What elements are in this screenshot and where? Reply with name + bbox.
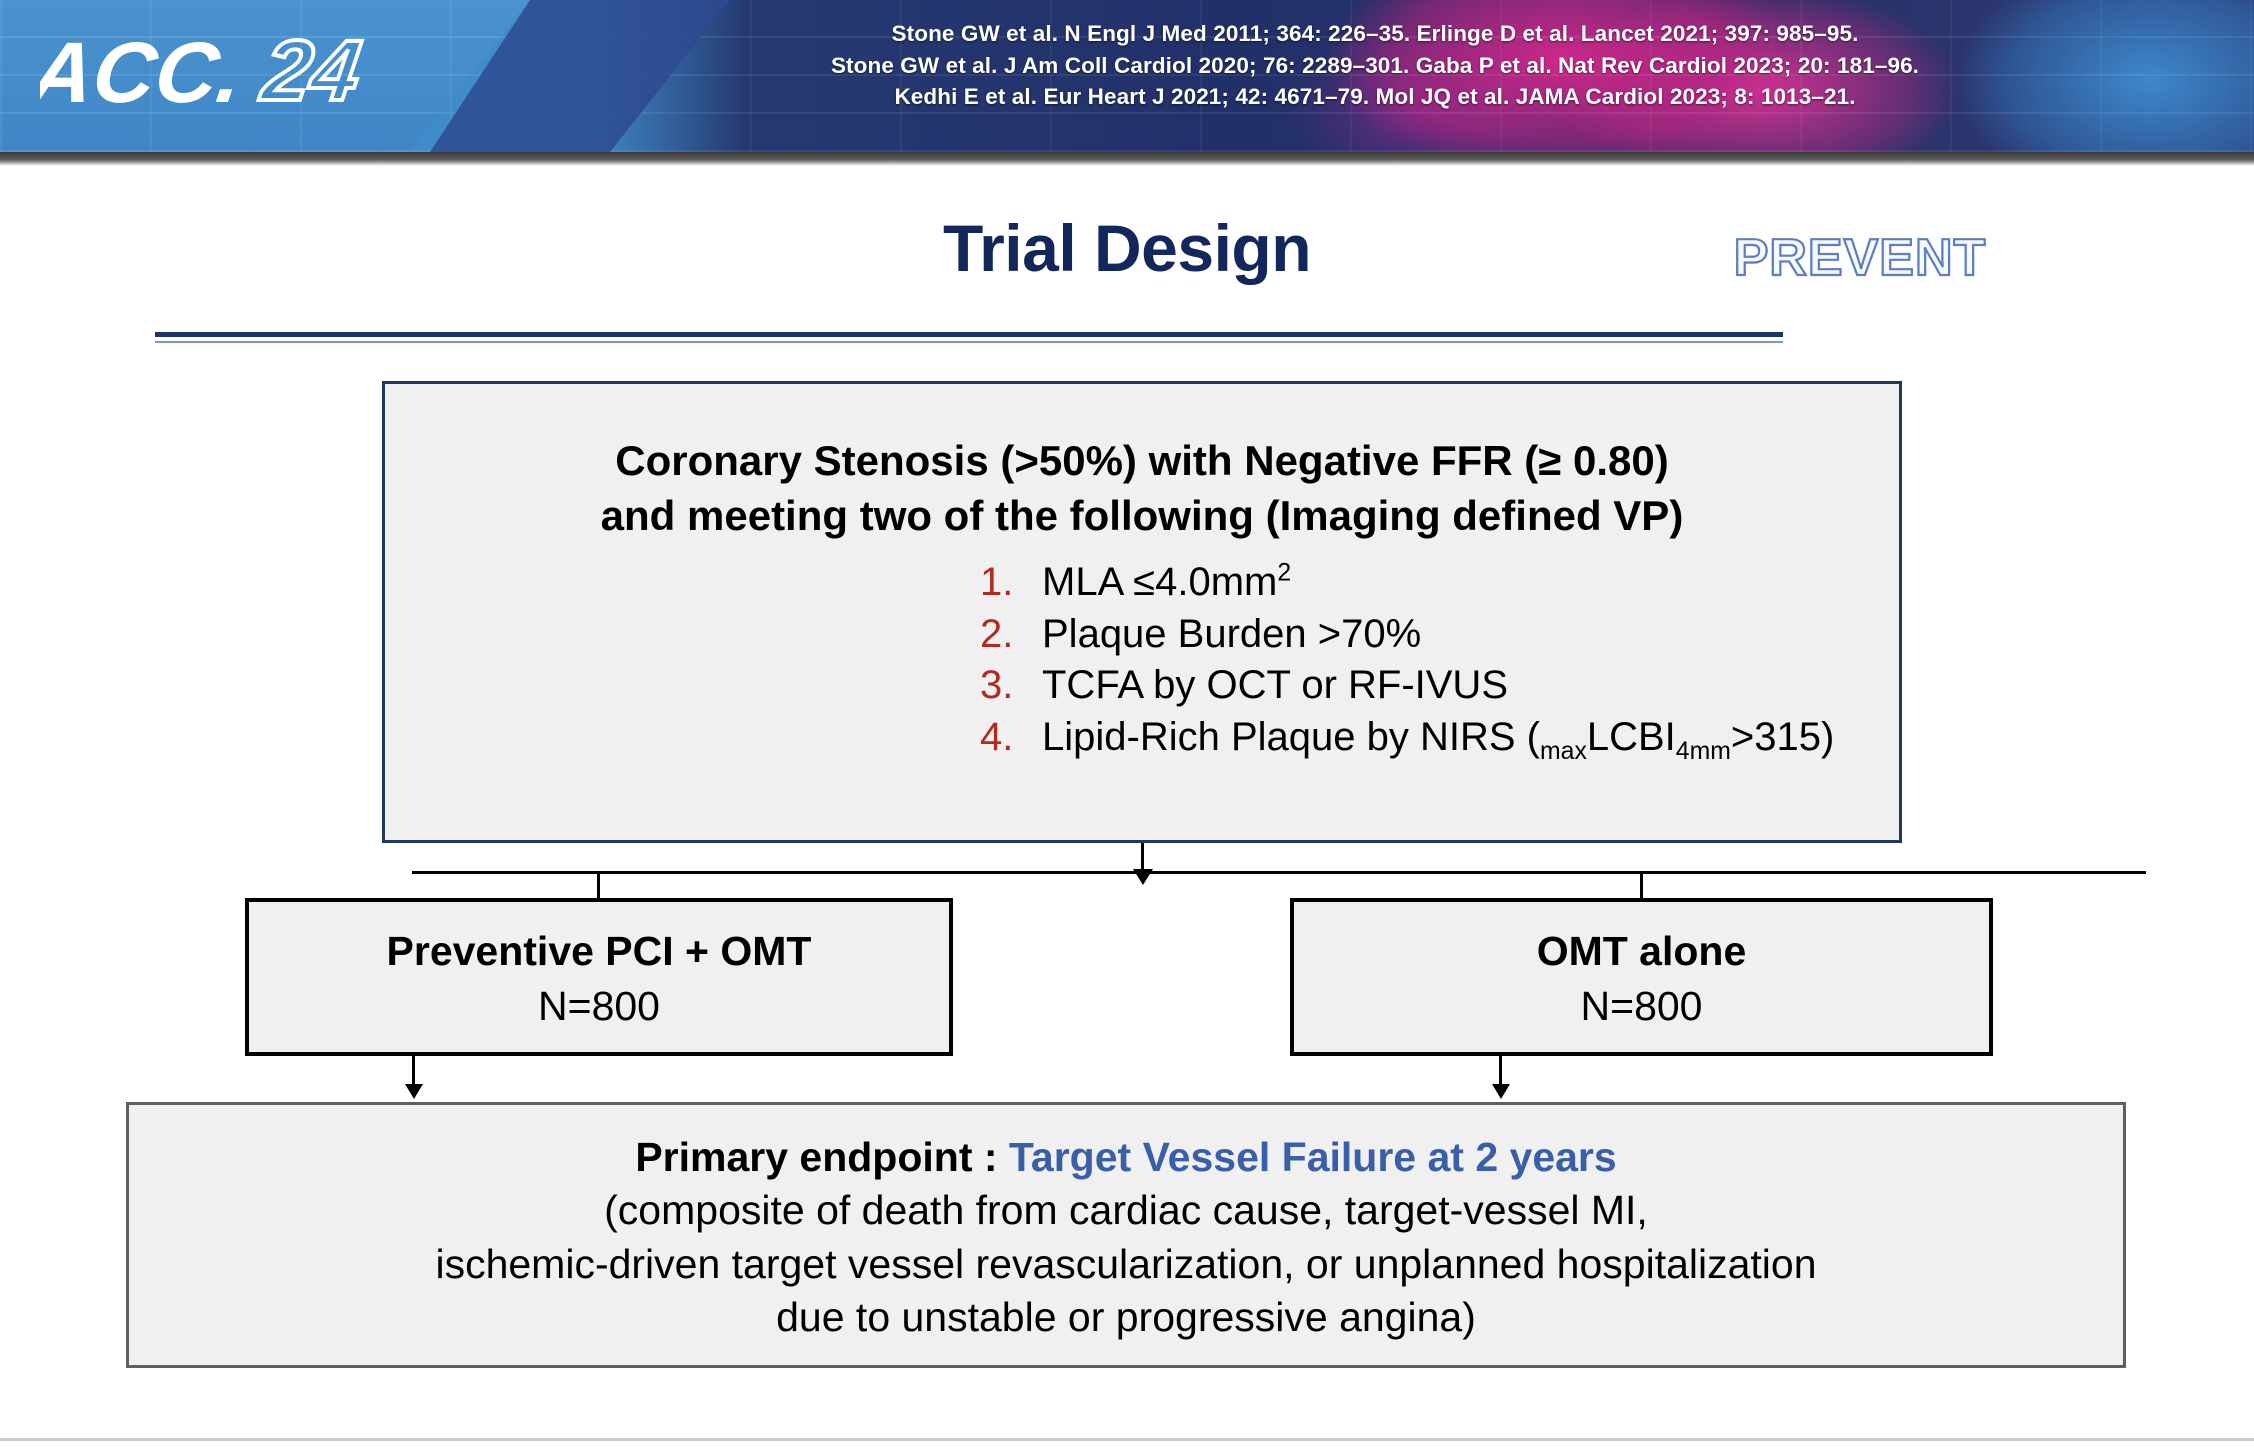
endpoint-detail-line-2: (composite of death from cardiac cause, … xyxy=(129,1184,2123,1237)
criteria-heading-line-2: and meeting two of the following (Imagin… xyxy=(385,489,1899,544)
endpoint-label: Primary endpoint : xyxy=(635,1134,1009,1180)
criteria-text: Plaque Burden >70% xyxy=(1042,609,1421,661)
criteria-number: 3. xyxy=(980,660,1042,712)
criteria-text: TCFA by OCT or RF-IVUS xyxy=(1042,660,1508,712)
criteria-text: Lipid-Rich Plaque by NIRS (maxLCBI4mm>31… xyxy=(1042,712,1834,768)
criteria-number: 1. xyxy=(980,557,1042,609)
title-divider-thick xyxy=(155,332,1783,337)
arm-sample-size: N=800 xyxy=(249,983,949,1030)
endpoint-highlight: Target Vessel Failure at 2 years xyxy=(1009,1134,1617,1180)
list-item: 1. MLA ≤4.0mm2 xyxy=(385,557,1899,609)
criteria-text: MLA ≤4.0mm2 xyxy=(1042,557,1291,609)
endpoint-detail-line-4: due to unstable or progressive angina) xyxy=(129,1291,2123,1344)
connector-to-endpoint-right xyxy=(1499,1056,1502,1086)
arrow-down-icon-right xyxy=(1492,1084,1510,1099)
arm-title: Preventive PCI + OMT xyxy=(249,928,949,975)
criteria-number: 4. xyxy=(980,712,1042,768)
footer-divider xyxy=(0,1438,2254,1441)
endpoint-detail-line-3: ischemic-driven target vessel revascular… xyxy=(129,1238,2123,1291)
list-item: 4. Lipid-Rich Plaque by NIRS (maxLCBI4mm… xyxy=(385,712,1899,768)
criteria-heading: Coronary Stenosis (>50%) with Negative F… xyxy=(385,434,1899,543)
criteria-number: 2. xyxy=(980,609,1042,661)
arm-sample-size: N=800 xyxy=(1294,983,1989,1030)
arrow-down-icon xyxy=(1133,869,1153,885)
arm-box-preventive-pci: Preventive PCI + OMT N=800 xyxy=(245,898,953,1056)
list-item: 2. Plaque Burden >70% xyxy=(385,609,1899,661)
arm-box-omt-alone: OMT alone N=800 xyxy=(1290,898,1993,1056)
banner-shadow xyxy=(0,152,2254,166)
subscript-4mm: 4mm xyxy=(1676,738,1731,765)
title-divider-thin xyxy=(155,341,1783,343)
acc-header-banner: ACC. 24 Stone GW et al. N Engl J Med 201… xyxy=(0,0,2254,152)
prevent-trial-logo: PREVENT xyxy=(1700,228,2020,288)
connector-drop-right xyxy=(1640,871,1643,898)
endpoint-headline: Primary endpoint : Target Vessel Failure… xyxy=(129,1131,2123,1184)
svg-text:ACC.: ACC. xyxy=(40,25,249,121)
svg-text:24: 24 xyxy=(255,23,366,119)
arm-title: OMT alone xyxy=(1294,928,1989,975)
criteria-heading-line-1: Coronary Stenosis (>50%) with Negative F… xyxy=(385,434,1899,489)
superscript: 2 xyxy=(1277,560,1291,587)
connector-to-endpoint-left xyxy=(412,1056,415,1086)
acc-24-logo: ACC. 24 xyxy=(40,14,500,134)
list-item: 3. TCFA by OCT or RF-IVUS xyxy=(385,660,1899,712)
citation-line-3: Kedhi E et al. Eur Heart J 2021; 42: 467… xyxy=(700,81,2050,113)
connector-horizontal-bar xyxy=(412,871,2146,874)
citation-line-1: Stone GW et al. N Engl J Med 2011; 364: … xyxy=(700,18,2050,50)
inclusion-criteria-box: Coronary Stenosis (>50%) with Negative F… xyxy=(382,381,1902,843)
citation-line-2: Stone GW et al. J Am Coll Cardiol 2020; … xyxy=(700,50,2050,82)
connector-drop-left xyxy=(597,871,600,898)
primary-endpoint-box: Primary endpoint : Target Vessel Failure… xyxy=(126,1102,2126,1368)
prevent-logo-text: PREVENT xyxy=(1734,228,1987,288)
citation-block: Stone GW et al. N Engl J Med 2011; 364: … xyxy=(700,18,2050,113)
criteria-list: 1. MLA ≤4.0mm2 2. Plaque Burden >70% 3. … xyxy=(385,557,1899,768)
subscript-max: max xyxy=(1540,738,1587,765)
arrow-down-icon-left xyxy=(405,1084,423,1099)
